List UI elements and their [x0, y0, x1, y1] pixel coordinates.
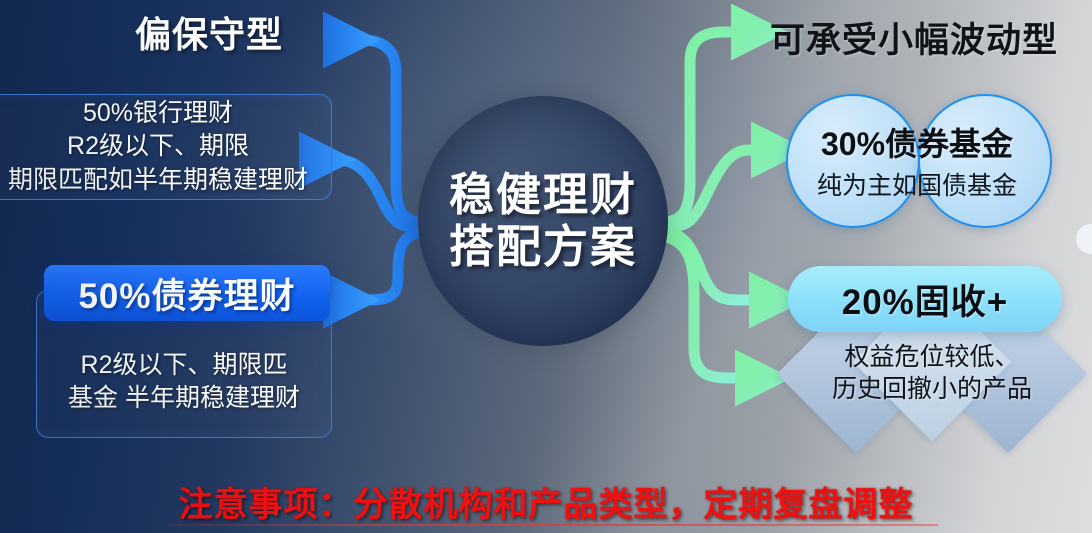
left-node-bank-wealth[interactable]: 50%银行理财 R2级以下、期限 期限匹配如半年期稳建理财 [0, 94, 332, 200]
left-node-bank-line-1: 50%银行理财 [83, 97, 233, 130]
footer-underline [168, 524, 938, 526]
right-node-bondfund-text: 30%债券基金 纯为主如国债基金 [786, 100, 1048, 220]
right-node-fixedincome-line-2: 历史回撤小的产品 [832, 373, 1032, 406]
diagram-canvas: 稳健理财 搭配方案 偏保守型 50%银行理财 R2级以下、期限 期限匹配如半年期… [0, 0, 1092, 533]
left-branch-heading: 偏保守型 [135, 6, 283, 58]
left-node-bond-pill[interactable]: 50%债券理财 [44, 265, 330, 321]
right-node-bondfund-subtitle: 纯为主如国债基金 [817, 166, 1017, 202]
left-node-bond-line-2: 基金 半年期稳建理财 [68, 382, 300, 415]
hub-line-2: 搭配方案 [449, 221, 637, 273]
right-node-fixedincome-text: 权益危位较低、 历史回撤小的产品 [796, 332, 1068, 414]
right-node-bondfund-title: 30%债券基金 [821, 119, 1013, 165]
footer-note-text: 注意事项：分散机构和产品类型，定期复盘调整 [179, 477, 914, 526]
left-node-bank-line-3: 期限匹配如半年期稳建理财 [8, 164, 308, 197]
left-node-bank-line-2: R2级以下、期限 [67, 130, 249, 163]
hub-line-1: 稳健理财 [449, 169, 637, 221]
right-node-fixedincome-pill-label: 20%固收+ [842, 274, 1009, 325]
left-node-bond-line-1: R2级以下、期限匹 [81, 349, 288, 382]
right-node-fixedincome-line-1: 权益危位较低、 [844, 341, 1019, 374]
center-hub[interactable]: 稳健理财 搭配方案 [418, 96, 668, 346]
edge-decoration-blob [1076, 224, 1092, 254]
right-node-fixedincome-pill[interactable]: 20%固收+ [788, 266, 1062, 332]
left-node-bond-pill-label: 50%债券理财 [78, 268, 295, 319]
right-branch-heading: 可承受小幅波动型 [770, 12, 1058, 63]
